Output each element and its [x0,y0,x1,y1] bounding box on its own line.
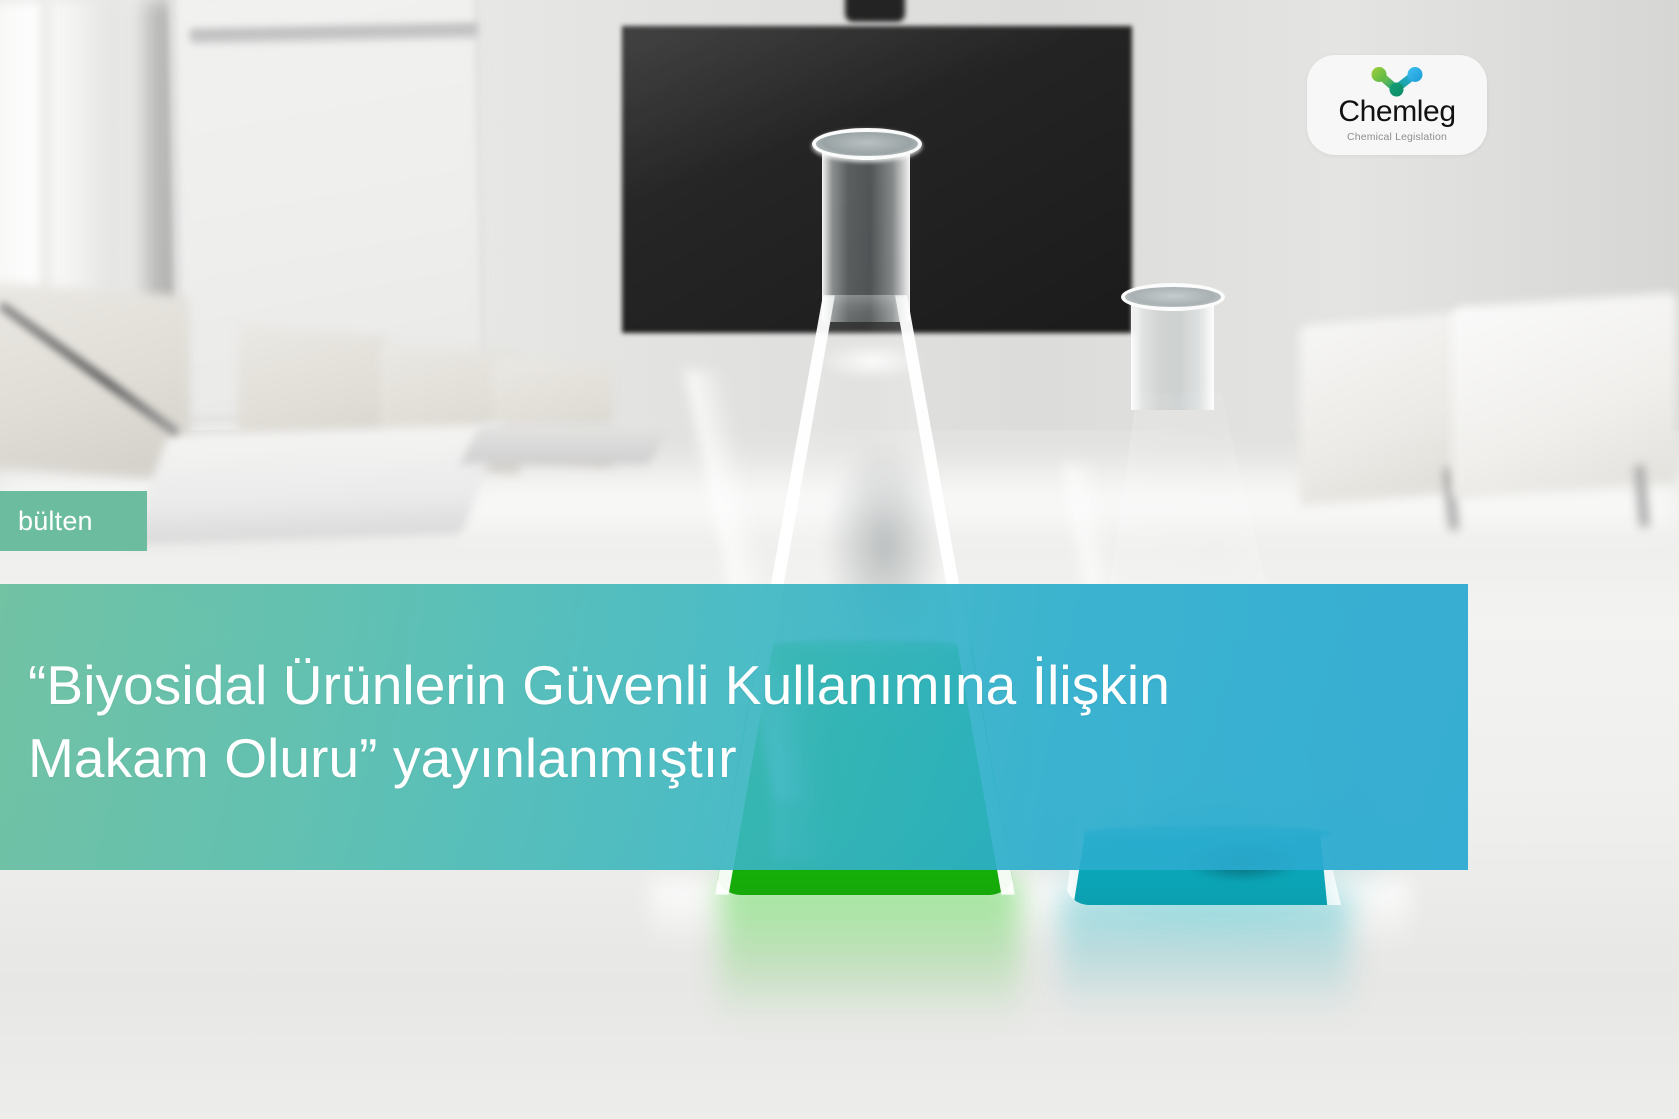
category-badge[interactable]: bülten [0,491,147,551]
flask-neck [822,142,910,322]
green-liquid-reflection [720,878,1020,1058]
molecule-icon [1368,67,1426,97]
logo-tagline: Chemical Legislation [1347,131,1447,143]
chemleg-logo[interactable]: Chemleg Chemical Legislation [1307,55,1487,155]
paper-on-table [460,424,670,464]
page-title: “Biyosidal Ürünlerin Güvenli Kullanımına… [28,649,1438,795]
window-mullion [42,0,54,300]
flask-neck [1131,295,1214,410]
flask-lip [1121,283,1225,311]
chair-right-2 [1452,300,1679,525]
flask-lip [812,128,922,160]
laptop-on-table [127,424,502,545]
category-badge-label: bülten [0,506,93,537]
tv-mount-bracket [845,0,905,22]
background-photo [0,0,1679,1119]
headline-banner: “Biyosidal Ürünlerin Güvenli Kullanımına… [0,584,1468,870]
logo-wordmark: Chemleg [1338,97,1455,127]
